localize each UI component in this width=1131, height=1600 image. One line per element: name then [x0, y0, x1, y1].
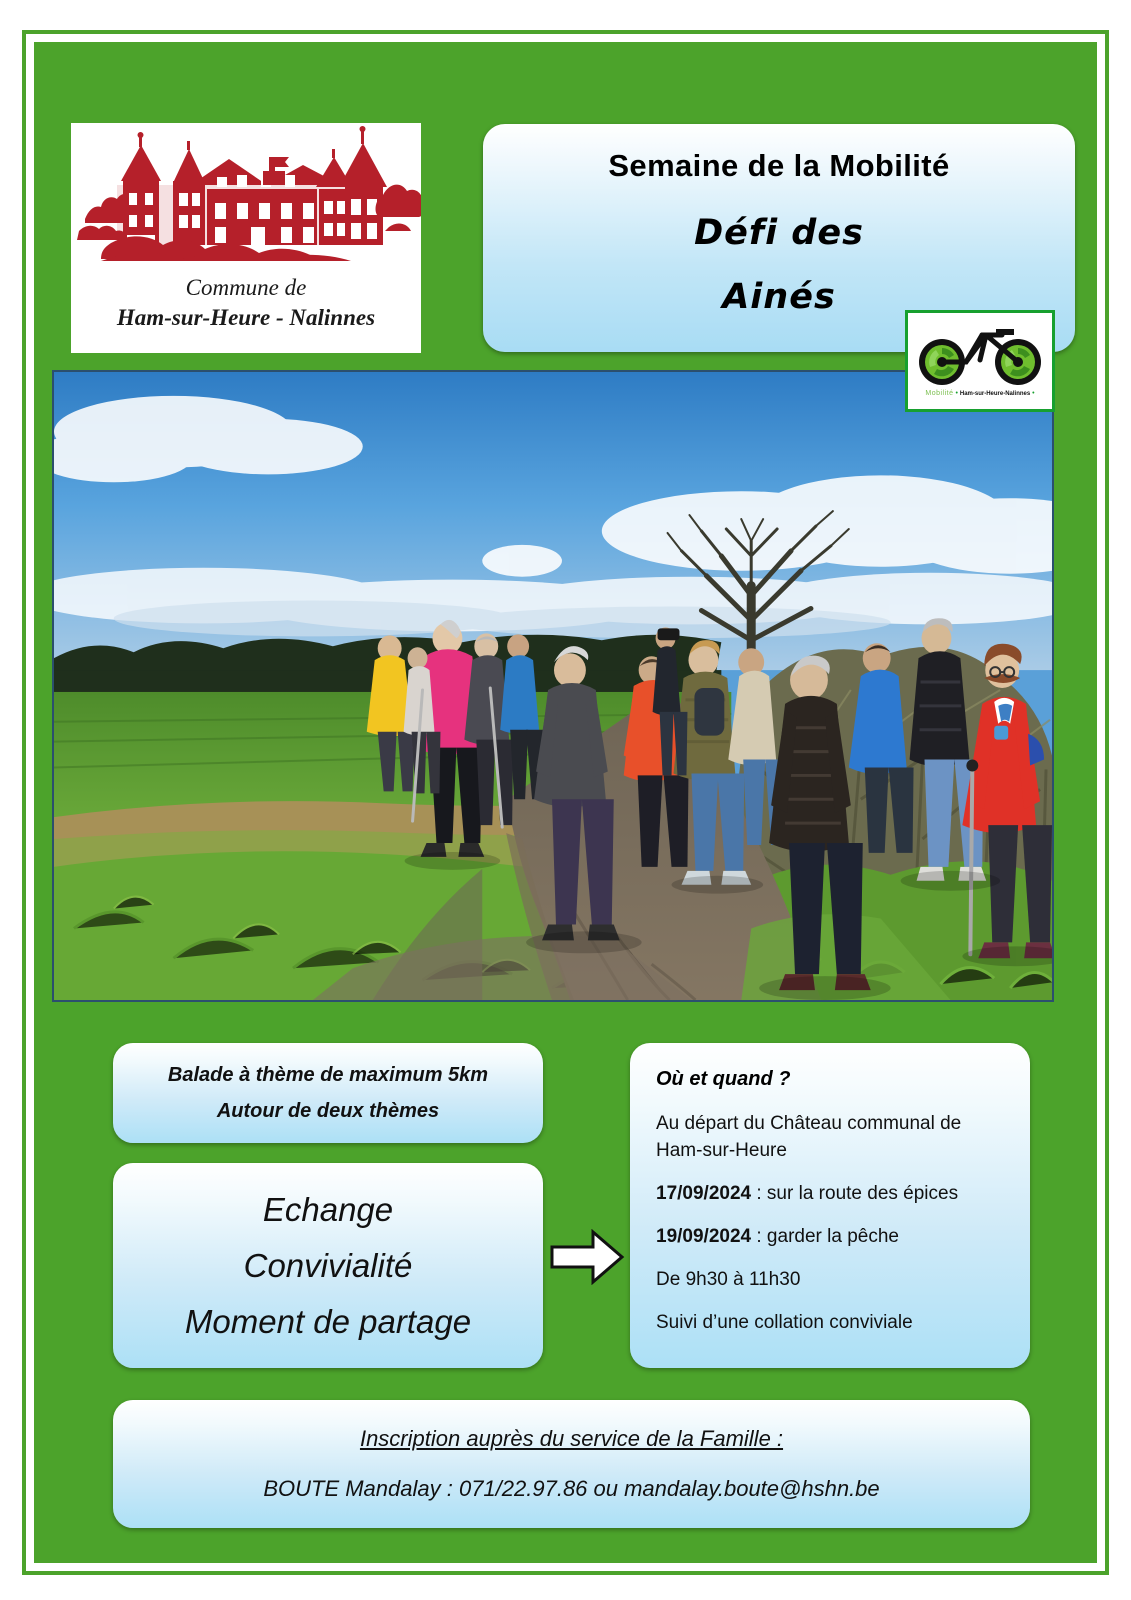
values-line-3: Moment de partage	[185, 1300, 471, 1344]
contact-details: BOUTE Mandalay : 071/22.97.86 ou mandala…	[263, 1474, 879, 1504]
mobility-caption-dot-2: •	[1032, 390, 1034, 397]
when-card-title: Où et quand ?	[656, 1068, 1004, 1091]
when-location: Au départ du Château communal de Ham-sur…	[656, 1110, 1004, 1164]
poster-root: Commune de Ham-sur-Heure - Nalinnes Sema…	[0, 0, 1131, 1600]
when-date-2: 19/09/2024 : garder la pêche	[656, 1223, 1004, 1250]
when-date-2-text: : garder la pêche	[751, 1226, 899, 1247]
when-date-2-value: 19/09/2024	[656, 1226, 751, 1247]
mobility-logo-caption: Mobilité • Ham-sur-Heure-Nalinnes •	[908, 389, 1052, 399]
theme-line-2: Autour de deux thèmes	[217, 1098, 439, 1124]
commune-logo: Commune de Ham-sur-Heure - Nalinnes	[71, 123, 421, 353]
when-date-1-value: 17/09/2024	[656, 1183, 751, 1204]
when-location-line2: Ham-sur-Heure	[656, 1140, 787, 1161]
values-card: Echange Convivialité Moment de partage	[113, 1163, 543, 1368]
when-date-1-text: : sur la route des épices	[751, 1183, 958, 1204]
values-line-1: Echange	[263, 1188, 393, 1232]
when-location-line1: Au départ du Château communal de	[656, 1113, 961, 1134]
walk-photo-illustration	[54, 372, 1052, 1000]
mobility-logo: Mobilité • Ham-sur-Heure-Nalinnes •	[905, 310, 1055, 412]
mobility-caption-place: Ham-sur-Heure-Nalinnes	[960, 391, 1030, 397]
castle-crest-icon	[71, 123, 421, 271]
commune-logo-caption: Commune de Ham-sur-Heure - Nalinnes	[71, 273, 421, 333]
mobility-caption-dot: •	[955, 390, 957, 397]
commune-caption-line2: Ham-sur-Heure - Nalinnes	[71, 303, 421, 333]
bicycle-icon	[908, 315, 1052, 389]
values-line-2: Convivialité	[244, 1244, 413, 1288]
when-card: Où et quand ? Au départ du Château commu…	[630, 1043, 1030, 1368]
commune-caption-line1: Commune de	[71, 273, 421, 303]
theme-card: Balade à thème de maximum 5km Autour de …	[113, 1043, 543, 1143]
poster-subtitle-line1: Défi des	[483, 210, 1075, 256]
right-arrow-icon	[549, 1229, 625, 1285]
theme-line-1: Balade à thème de maximum 5km	[168, 1062, 488, 1088]
when-hours: De 9h30 à 11h30	[656, 1266, 1004, 1293]
right-arrow-shape	[549, 1229, 625, 1285]
walk-photo	[52, 370, 1054, 1002]
when-date-1: 17/09/2024 : sur la route des épices	[656, 1180, 1004, 1207]
mobility-caption-brand: Mobilité	[925, 390, 953, 397]
when-extra: Suivi d’une collation conviviale	[656, 1309, 1004, 1336]
contact-card: Inscription auprès du service de la Fami…	[113, 1400, 1030, 1528]
poster-heading: Semaine de la Mobilité	[483, 146, 1075, 186]
contact-title: Inscription auprès du service de la Fami…	[360, 1424, 783, 1454]
